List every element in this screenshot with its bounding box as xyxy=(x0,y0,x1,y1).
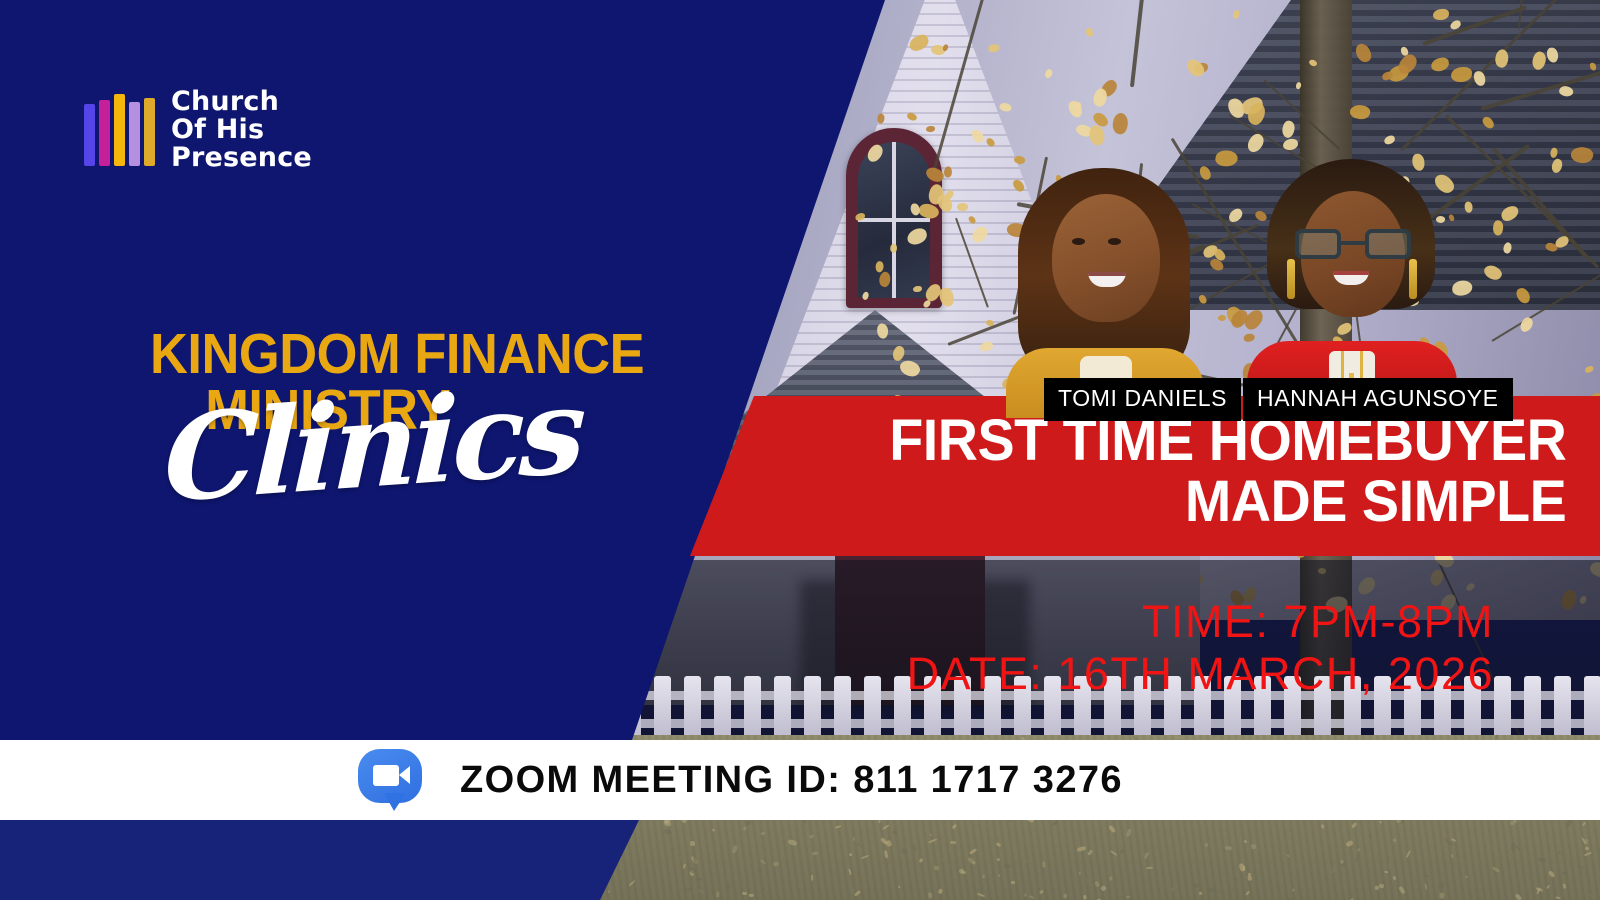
fence-picket xyxy=(744,676,761,740)
earring-left xyxy=(1287,259,1295,299)
face xyxy=(1052,194,1160,322)
grass-fleck xyxy=(849,822,854,825)
grass-fleck xyxy=(1110,850,1117,856)
grass-fleck xyxy=(709,844,714,847)
zoom-meeting-id-label: ZOOM MEETING ID: 811 1717 3276 xyxy=(460,759,1123,802)
grass-fleck xyxy=(1146,867,1153,870)
grass-fleck xyxy=(1109,876,1113,881)
grass-fleck xyxy=(849,853,853,857)
grass-fleck xyxy=(788,839,798,847)
program-title-block: KINGDOM FINANCE MINISTRY Clinics xyxy=(150,328,670,437)
church-logo: Church Of His Presence xyxy=(84,88,312,172)
event-date: DATE: 16TH MARCH, 2026 xyxy=(907,648,1494,700)
grass-fleck xyxy=(1107,871,1111,876)
grass-fleck xyxy=(1085,877,1089,885)
speaker-photo-tomi-daniels xyxy=(1000,160,1210,410)
title-script-clinics: Clinics xyxy=(162,371,583,519)
grass-fleck xyxy=(996,858,999,861)
grass-fleck xyxy=(1020,839,1024,848)
grass-fleck xyxy=(1585,846,1590,850)
grass-fleck xyxy=(1024,894,1027,897)
earring-right xyxy=(1409,259,1417,299)
grass-fleck xyxy=(871,840,876,845)
grass-fleck xyxy=(1492,866,1500,873)
grass-fleck xyxy=(1369,834,1373,839)
grass-fleck xyxy=(716,891,719,897)
grass-fleck xyxy=(1029,895,1034,900)
speaker-photo-hannah-agunsoye xyxy=(1245,155,1460,410)
navy-bottom-strip xyxy=(0,818,700,900)
grass-fleck xyxy=(1437,882,1446,889)
grass-fleck xyxy=(885,840,892,847)
grass-fleck xyxy=(1193,883,1199,889)
grass-fleck xyxy=(760,887,766,892)
grass-fleck xyxy=(1246,890,1251,895)
grass-fleck xyxy=(1511,843,1516,852)
grass-fleck xyxy=(628,880,636,887)
grass-fleck xyxy=(683,887,691,891)
headline-line-2: MADE SIMPLE xyxy=(889,471,1566,532)
grass-fleck xyxy=(1571,847,1577,852)
grass-fleck xyxy=(1094,881,1100,888)
grass-fleck xyxy=(608,889,611,893)
grass-fleck xyxy=(921,848,925,855)
grass-fleck xyxy=(1063,894,1067,898)
grass-fleck xyxy=(1439,892,1445,899)
grass-fleck xyxy=(1379,820,1383,824)
grass-fleck xyxy=(737,836,745,841)
grass-fleck xyxy=(671,848,675,851)
grass-fleck xyxy=(697,888,706,894)
grass-fleck xyxy=(1234,842,1238,847)
grass-fleck xyxy=(1548,870,1556,878)
grass-fleck xyxy=(977,893,985,897)
logo-line-2: Of His xyxy=(171,116,312,144)
fence-picket xyxy=(1554,676,1571,740)
grass-fleck xyxy=(1204,843,1208,848)
grass-fleck xyxy=(1447,841,1453,846)
flyer-canvas: Church Of His Presence KINGDOM FINANCE M… xyxy=(0,0,1600,900)
fence-picket xyxy=(774,676,791,740)
grass-fleck xyxy=(928,892,934,899)
grass-fleck xyxy=(690,841,695,846)
grass-fleck xyxy=(1384,871,1388,874)
grass-fleck xyxy=(1280,877,1283,885)
grass-fleck xyxy=(1451,854,1454,858)
grass-fleck xyxy=(1125,829,1132,838)
grass-fleck xyxy=(761,832,765,835)
fence-picket xyxy=(684,676,701,740)
grass-fleck xyxy=(1516,845,1522,851)
grass-fleck xyxy=(773,861,780,866)
grass-fleck xyxy=(1002,878,1006,880)
grass-fleck xyxy=(1357,849,1360,852)
grass-fleck xyxy=(1079,871,1082,875)
grass-fleck xyxy=(1039,889,1044,894)
grass-fleck xyxy=(1144,851,1150,859)
fence-picket xyxy=(804,676,821,740)
grass-fleck xyxy=(1581,822,1585,826)
grass-fleck xyxy=(934,865,940,870)
grass-fleck xyxy=(1406,849,1411,857)
grass-fleck xyxy=(1392,875,1397,880)
grass-fleck xyxy=(1163,851,1165,853)
lens-right xyxy=(1365,229,1411,259)
grass-fleck xyxy=(812,852,818,856)
grass-fleck xyxy=(1427,857,1430,865)
grass-fleck xyxy=(961,871,967,875)
grass-fleck xyxy=(1260,848,1265,852)
grass-fleck xyxy=(1345,840,1354,848)
grass-fleck xyxy=(697,878,702,881)
grass-fleck xyxy=(950,841,956,844)
grass-fleck xyxy=(742,892,747,895)
event-time: TIME: 7PM-8PM xyxy=(907,596,1494,648)
grass-fleck xyxy=(745,820,752,826)
grass-fleck xyxy=(682,863,685,868)
grass-fleck xyxy=(1234,877,1238,881)
eyeglasses-icon xyxy=(1295,229,1411,259)
grass-fleck xyxy=(1330,865,1337,874)
grass-fleck xyxy=(1588,893,1594,899)
grass-fleck xyxy=(928,839,937,844)
fence-picket xyxy=(834,676,851,740)
eye-right xyxy=(1108,238,1121,245)
window-muntin-horizontal xyxy=(858,218,930,222)
grass-fleck xyxy=(1236,838,1239,841)
logo-bar-5 xyxy=(144,98,155,166)
grass-fleck xyxy=(1199,891,1202,894)
headline-text: FIRST TIME HOMEBUYER MADE SIMPLE xyxy=(889,410,1566,533)
grass-fleck xyxy=(1514,893,1522,900)
grass-fleck xyxy=(1340,863,1346,869)
grass-fleck xyxy=(995,841,1001,847)
grass-fleck xyxy=(1119,849,1123,854)
grass-fleck xyxy=(1084,895,1087,899)
grass-fleck xyxy=(1208,887,1216,892)
grass-fleck xyxy=(1004,864,1011,869)
eye-left xyxy=(1072,238,1085,245)
grass-fleck xyxy=(1250,843,1256,849)
grass-fleck xyxy=(967,857,977,866)
grass-fleck xyxy=(938,888,944,894)
grass-fleck xyxy=(1087,849,1093,856)
grass-fleck xyxy=(1423,874,1430,877)
nametag-tomi-daniels: TOMI DANIELS xyxy=(1044,378,1241,421)
fence-picket xyxy=(714,676,731,740)
grass-fleck xyxy=(1398,886,1406,895)
grass-fleck xyxy=(1392,837,1397,842)
grass-fleck xyxy=(1546,885,1550,890)
logo-bar-2 xyxy=(99,100,110,166)
fence-picket xyxy=(1584,676,1600,740)
grass-fleck xyxy=(1563,883,1567,889)
grass-fleck xyxy=(731,844,738,853)
grass-fleck xyxy=(1267,825,1274,828)
grass-fleck xyxy=(1011,881,1015,884)
grass-fleck xyxy=(984,872,988,876)
grass-fleck xyxy=(883,879,886,882)
zoom-camera-body xyxy=(373,765,399,786)
grass-fleck xyxy=(900,847,908,855)
grass-fleck xyxy=(798,889,801,893)
grass-fleck xyxy=(1355,855,1359,863)
grass-fleck xyxy=(777,833,785,839)
grass-fleck xyxy=(884,850,888,859)
grass-fleck xyxy=(912,845,916,852)
event-details: TIME: 7PM-8PM DATE: 16TH MARCH, 2026 xyxy=(907,596,1494,700)
logo-bar-1 xyxy=(84,104,95,166)
grass-fleck xyxy=(1100,885,1107,892)
zoom-video-icon xyxy=(358,749,424,811)
grass-fleck xyxy=(1555,896,1561,899)
grass-fleck xyxy=(1091,884,1094,887)
grass-fleck xyxy=(760,859,766,864)
grass-fleck xyxy=(1244,839,1248,843)
grass-fleck xyxy=(1051,821,1058,828)
grass-fleck xyxy=(1391,831,1398,838)
grass-fleck xyxy=(1076,846,1085,852)
grass-fleck xyxy=(853,837,856,842)
logo-bars-icon xyxy=(84,94,155,166)
grass-fleck xyxy=(1439,843,1444,849)
grass-fleck xyxy=(1464,875,1467,878)
grass-fleck xyxy=(1322,824,1325,828)
grass-fleck xyxy=(1286,854,1290,858)
grass-fleck xyxy=(1538,857,1547,863)
grass-fleck xyxy=(1425,884,1428,891)
grass-fleck xyxy=(1247,875,1252,881)
grass-fleck xyxy=(856,843,859,847)
grass-fleck xyxy=(808,834,814,839)
grass-fleck xyxy=(1108,825,1117,834)
grass-fleck xyxy=(1378,883,1384,888)
grass-fleck xyxy=(679,856,685,862)
logo-bar-3 xyxy=(114,94,125,166)
grass-fleck xyxy=(1224,845,1231,850)
grass-fleck xyxy=(861,855,869,860)
fence-picket xyxy=(654,676,671,740)
grass-fleck xyxy=(1584,852,1592,857)
grass-fleck xyxy=(1583,839,1588,845)
grass-fleck xyxy=(918,858,922,863)
grass-fleck xyxy=(757,868,762,872)
grass-fleck xyxy=(1477,896,1483,900)
logo-line-1: Church xyxy=(171,88,312,116)
grass-fleck xyxy=(942,858,947,862)
grass-fleck xyxy=(973,823,979,829)
zoom-bubble-tail xyxy=(384,793,406,811)
grass-fleck xyxy=(1562,872,1567,874)
grass-fleck xyxy=(1043,861,1046,867)
logo-bar-4 xyxy=(129,102,140,166)
grass-fleck xyxy=(1457,858,1465,861)
glasses-bridge xyxy=(1341,241,1365,245)
grass-fleck xyxy=(882,824,890,831)
grass-fleck xyxy=(969,848,977,855)
grass-fleck xyxy=(664,829,673,835)
grass-fleck xyxy=(811,875,813,881)
fence-picket xyxy=(1494,676,1511,740)
grass-fleck xyxy=(851,858,857,865)
grass-fleck xyxy=(1023,859,1030,862)
grass-fleck xyxy=(726,882,731,888)
grass-fleck xyxy=(1126,895,1130,898)
grass-fleck xyxy=(1243,866,1246,871)
grass-fleck xyxy=(1557,850,1561,854)
fence-picket xyxy=(864,676,881,740)
logo-line-3: Presence xyxy=(171,144,312,172)
grass-fleck xyxy=(892,830,897,835)
lens-left xyxy=(1295,229,1341,259)
grass-fleck xyxy=(997,874,1001,878)
grass-fleck xyxy=(712,828,715,831)
grass-fleck xyxy=(898,885,901,888)
grass-fleck xyxy=(951,824,957,830)
zoom-meeting-bar: ZOOM MEETING ID: 811 1717 3276 xyxy=(0,740,1600,820)
grass-fleck xyxy=(743,826,747,831)
grass-fleck xyxy=(1218,890,1220,892)
nametag-hannah-agunsoye: HANNAH AGUNSOYE xyxy=(1243,378,1513,421)
grass-fleck xyxy=(1351,822,1357,828)
grass-fleck xyxy=(930,834,933,837)
logo-wordmark: Church Of His Presence xyxy=(171,88,312,172)
grass-fleck xyxy=(749,894,754,897)
grass-fleck xyxy=(848,869,852,875)
grass-fleck xyxy=(1388,863,1393,870)
fence-picket xyxy=(1524,676,1541,740)
grass-fleck xyxy=(1291,888,1294,891)
grass-fleck xyxy=(1293,863,1302,867)
zoom-camera-lens xyxy=(399,766,410,784)
grass-fleck xyxy=(1170,885,1176,892)
